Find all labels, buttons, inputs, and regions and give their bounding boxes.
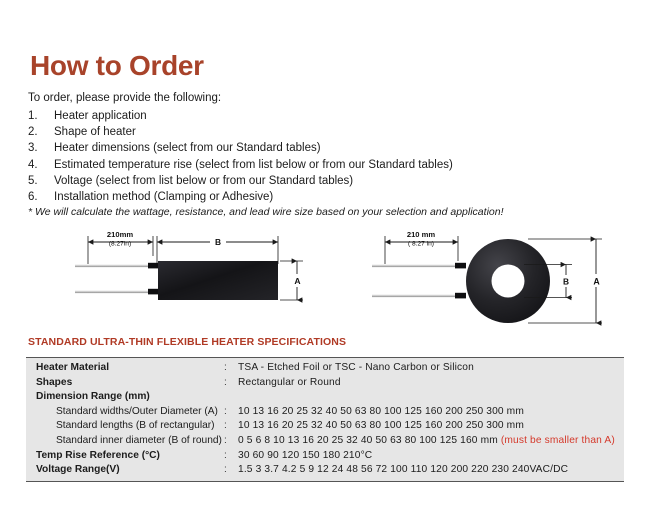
rect-lead-length-in: (8.27in) [109, 241, 131, 248]
spec-label: Voltage Range(V) [26, 463, 224, 478]
table-row: Standard lengths (B of rectangular) : 10… [26, 419, 624, 434]
list-item-label: Voltage (select from list below or from … [54, 173, 628, 189]
table-row: Heater Material : TSA - Etched Foil or T… [26, 358, 624, 376]
spec-label: Temp Rise Reference (°C) [26, 449, 224, 464]
rect-width-label: B [215, 237, 221, 247]
spec-value: 10 13 16 20 25 32 40 50 63 80 100 125 16… [238, 419, 624, 434]
spec-value: 0 5 6 8 10 13 16 20 25 32 40 50 63 80 10… [238, 434, 624, 449]
table-row: Dimension Range (mm) [26, 390, 624, 405]
spec-value: 30 60 90 120 150 180 210°C [238, 449, 624, 464]
heater-diagram-svg: 210mm (8.27in) B [0, 228, 650, 333]
list-item-number: 2. [28, 124, 54, 140]
spec-colon: : [224, 463, 238, 478]
spec-colon: : [224, 419, 238, 434]
round-lead-length-mm: 210 mm [407, 230, 436, 239]
list-item: 5. Voltage (select from list below or fr… [28, 173, 628, 189]
table-row: Temp Rise Reference (°C) : 30 60 90 120 … [26, 449, 624, 464]
list-item-label: Heater application [54, 108, 628, 124]
heater-diagrams: 210mm (8.27in) B [0, 228, 650, 333]
round-outer-label: A [593, 277, 600, 287]
table-row: Voltage Range(V) : 1.5 3 3.7 4.2 5 9 12 … [26, 463, 624, 481]
list-item-number: 3. [28, 140, 54, 156]
spec-colon: : [224, 434, 238, 449]
table-row: Shapes : Rectangular or Round [26, 376, 624, 391]
intro-text: To order, please provide the following: [28, 92, 221, 104]
table-row: Standard inner diameter (B of round) : 0… [26, 434, 624, 449]
rect-height-label: A [294, 276, 300, 286]
spec-value-text: 0 5 6 8 10 13 16 20 25 32 40 50 63 80 10… [238, 435, 498, 446]
spec-colon: : [224, 376, 238, 391]
list-item-number: 6. [28, 189, 54, 205]
spec-colon: : [224, 449, 238, 464]
spec-value: TSA - Etched Foil or TSC - Nano Carbon o… [238, 361, 624, 376]
spec-section-heading: STANDARD ULTRA-THIN FLEXIBLE HEATER SPEC… [28, 336, 346, 348]
spec-value: 1.5 3 3.7 4.2 5 9 12 24 48 56 72 100 110… [238, 463, 624, 478]
spec-colon: : [224, 405, 238, 420]
list-item: 2. Shape of heater [28, 124, 628, 140]
page-root: How to Order To order, please provide th… [0, 0, 650, 523]
calculation-note: * We will calculate the wattage, resista… [28, 206, 504, 218]
spec-value: Rectangular or Round [238, 376, 624, 391]
spec-table: Heater Material : TSA - Etched Foil or T… [26, 357, 624, 482]
round-inner-label: B [563, 277, 569, 287]
round-heater-hole [492, 265, 525, 298]
list-item: 4. Estimated temperature rise (select fr… [28, 157, 628, 173]
round-lead-length-in: ( 8.27 in) [408, 241, 434, 248]
list-item: 6. Installation method (Clamping or Adhe… [28, 189, 628, 205]
rectangular-heater-diagram: 210mm (8.27in) B [75, 230, 304, 300]
list-item-number: 4. [28, 157, 54, 173]
spec-label: Standard inner diameter (B of round) [26, 434, 224, 449]
list-item-label: Installation method (Clamping or Adhesiv… [54, 189, 628, 205]
list-item-number: 5. [28, 173, 54, 189]
list-item-label: Shape of heater [54, 124, 628, 140]
list-item: 3. Heater dimensions (select from our St… [28, 140, 628, 156]
list-item-label: Estimated temperature rise (select from … [54, 157, 628, 173]
table-row: Standard widths/Outer Diameter (A) : 10 … [26, 405, 624, 420]
round-heater-diagram: 210 mm ( 8.27 in) B [372, 230, 603, 323]
spec-colon: : [224, 361, 238, 376]
rect-lead-length-mm: 210mm [107, 230, 133, 239]
list-item-label: Heater dimensions (select from our Stand… [54, 140, 628, 156]
spec-label: Shapes [26, 376, 224, 391]
spec-label: Dimension Range (mm) [26, 390, 224, 405]
order-steps-list: 1. Heater application 2. Shape of heater… [28, 108, 628, 205]
spec-value: 10 13 16 20 25 32 40 50 63 80 100 125 16… [238, 405, 624, 420]
spec-label: Heater Material [26, 361, 224, 376]
page-title: How to Order [30, 52, 204, 80]
list-item-number: 1. [28, 108, 54, 124]
spec-label: Standard widths/Outer Diameter (A) [26, 405, 224, 420]
spec-label: Standard lengths (B of rectangular) [26, 419, 224, 434]
spec-value-warning: (must be smaller than A) [501, 435, 615, 446]
list-item: 1. Heater application [28, 108, 628, 124]
rect-heater-body [158, 261, 278, 300]
